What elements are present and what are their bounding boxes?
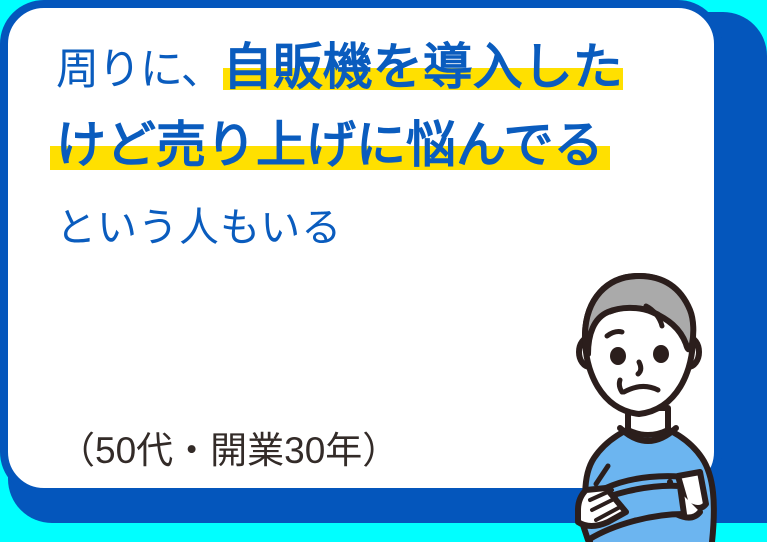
quote-line-1-highlight: 自販機を導入した xyxy=(223,42,623,92)
quote-text-block: 周りに、自販機を導入した けど売り上げに悩んでる という人もいる xyxy=(56,42,696,278)
quote-line-3-text: という人もいる xyxy=(56,205,342,250)
quote-line-2: けど売り上げに悩んでる xyxy=(56,120,696,208)
quote-line-2-highlight-text: けど売り上げに悩んでる xyxy=(56,117,604,173)
quote-line-1-highlight-text: 自販機を導入した xyxy=(223,39,623,95)
persona-caption: （50代・開業30年） xyxy=(58,420,399,474)
worried-man-illustration xyxy=(528,268,767,542)
quote-line-2-highlight: けど売り上げに悩んでる xyxy=(56,120,604,170)
quote-line-1-plain: 周りに、 xyxy=(56,49,223,92)
quote-line-2-highlight-wrap: けど売り上げに悩んでる xyxy=(56,120,604,170)
quote-line-1: 周りに、自販機を導入した xyxy=(56,42,696,120)
quote-line-1-highlight-wrap: 自販機を導入した xyxy=(223,42,623,92)
quote-line-1-plain-text: 周りに、 xyxy=(56,47,223,94)
slide-canvas: 周りに、自販機を導入した けど売り上げに悩んでる という人もいる （50代・開業… xyxy=(0,0,767,542)
